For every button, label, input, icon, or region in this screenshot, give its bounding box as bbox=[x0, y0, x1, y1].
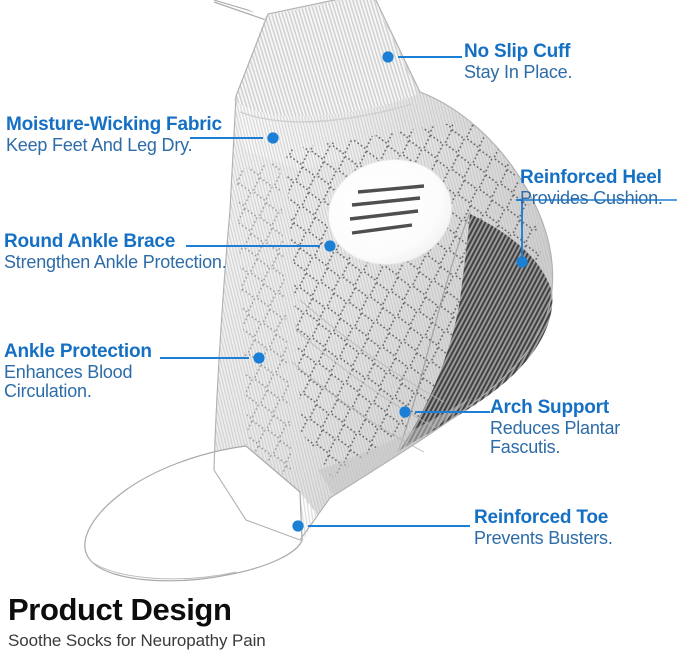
dot-ankle-protection bbox=[253, 352, 264, 363]
callout-subtitle: Stay In Place. bbox=[464, 63, 572, 81]
callout-subtitle: Provides Cushion. bbox=[520, 189, 663, 207]
callout-subtitle: Reduces Plantar bbox=[490, 419, 620, 437]
footer-block: Product Design Soothe Socks for Neuropat… bbox=[8, 594, 266, 649]
callout-title: Arch Support bbox=[490, 398, 620, 417]
dot-moisture-wicking-fabric bbox=[267, 132, 278, 143]
dot-reinforced-toe bbox=[292, 520, 303, 531]
callout-title: No Slip Cuff bbox=[464, 42, 572, 61]
callout-title: Moisture-Wicking Fabric bbox=[6, 115, 222, 134]
dot-no-slip-cuff bbox=[382, 51, 393, 62]
callout-subtitle: Enhances Blood bbox=[4, 363, 152, 381]
dot-arch-support bbox=[399, 406, 410, 417]
callout-reinforced-toe: Reinforced Toe Prevents Busters. bbox=[474, 508, 613, 547]
product-illustration bbox=[0, 0, 679, 659]
callout-ankle-protection: Ankle Protection Enhances Blood Circulat… bbox=[4, 342, 152, 400]
callout-arch-support: Arch Support Reduces Plantar Fascutis. bbox=[490, 398, 620, 456]
callout-subtitle: Prevents Busters. bbox=[474, 529, 613, 547]
page-subtitle: Soothe Socks for Neuropathy Pain bbox=[8, 632, 266, 649]
callout-subtitle: Keep Feet And Leg Dry. bbox=[6, 136, 222, 154]
sock-body bbox=[85, 0, 580, 581]
callout-subtitle: Strengthen Ankle Protection. bbox=[4, 253, 227, 271]
open-toe-outline bbox=[85, 446, 302, 581]
callout-title: Round Ankle Brace bbox=[4, 232, 227, 251]
page-title: Product Design bbox=[8, 594, 266, 625]
dot-round-ankle-brace bbox=[324, 240, 335, 251]
callout-reinforced-heel: Reinforced Heel Provides Cushion. bbox=[520, 168, 663, 207]
callout-moisture-wicking-fabric: Moisture-Wicking Fabric Keep Feet And Le… bbox=[6, 115, 222, 154]
callout-no-slip-cuff: No Slip Cuff Stay In Place. bbox=[464, 42, 572, 81]
callout-round-ankle-brace: Round Ankle Brace Strengthen Ankle Prote… bbox=[4, 232, 227, 271]
callout-title: Ankle Protection bbox=[4, 342, 152, 361]
callout-title: Reinforced Toe bbox=[474, 508, 613, 527]
callout-subtitle-line2: Fascutis. bbox=[490, 438, 620, 456]
infographic-canvas: No Slip Cuff Stay In Place. Moisture-Wic… bbox=[0, 0, 679, 659]
dot-reinforced-heel bbox=[516, 256, 527, 267]
callout-subtitle-line2: Circulation. bbox=[4, 382, 152, 400]
callout-title: Reinforced Heel bbox=[520, 168, 663, 187]
